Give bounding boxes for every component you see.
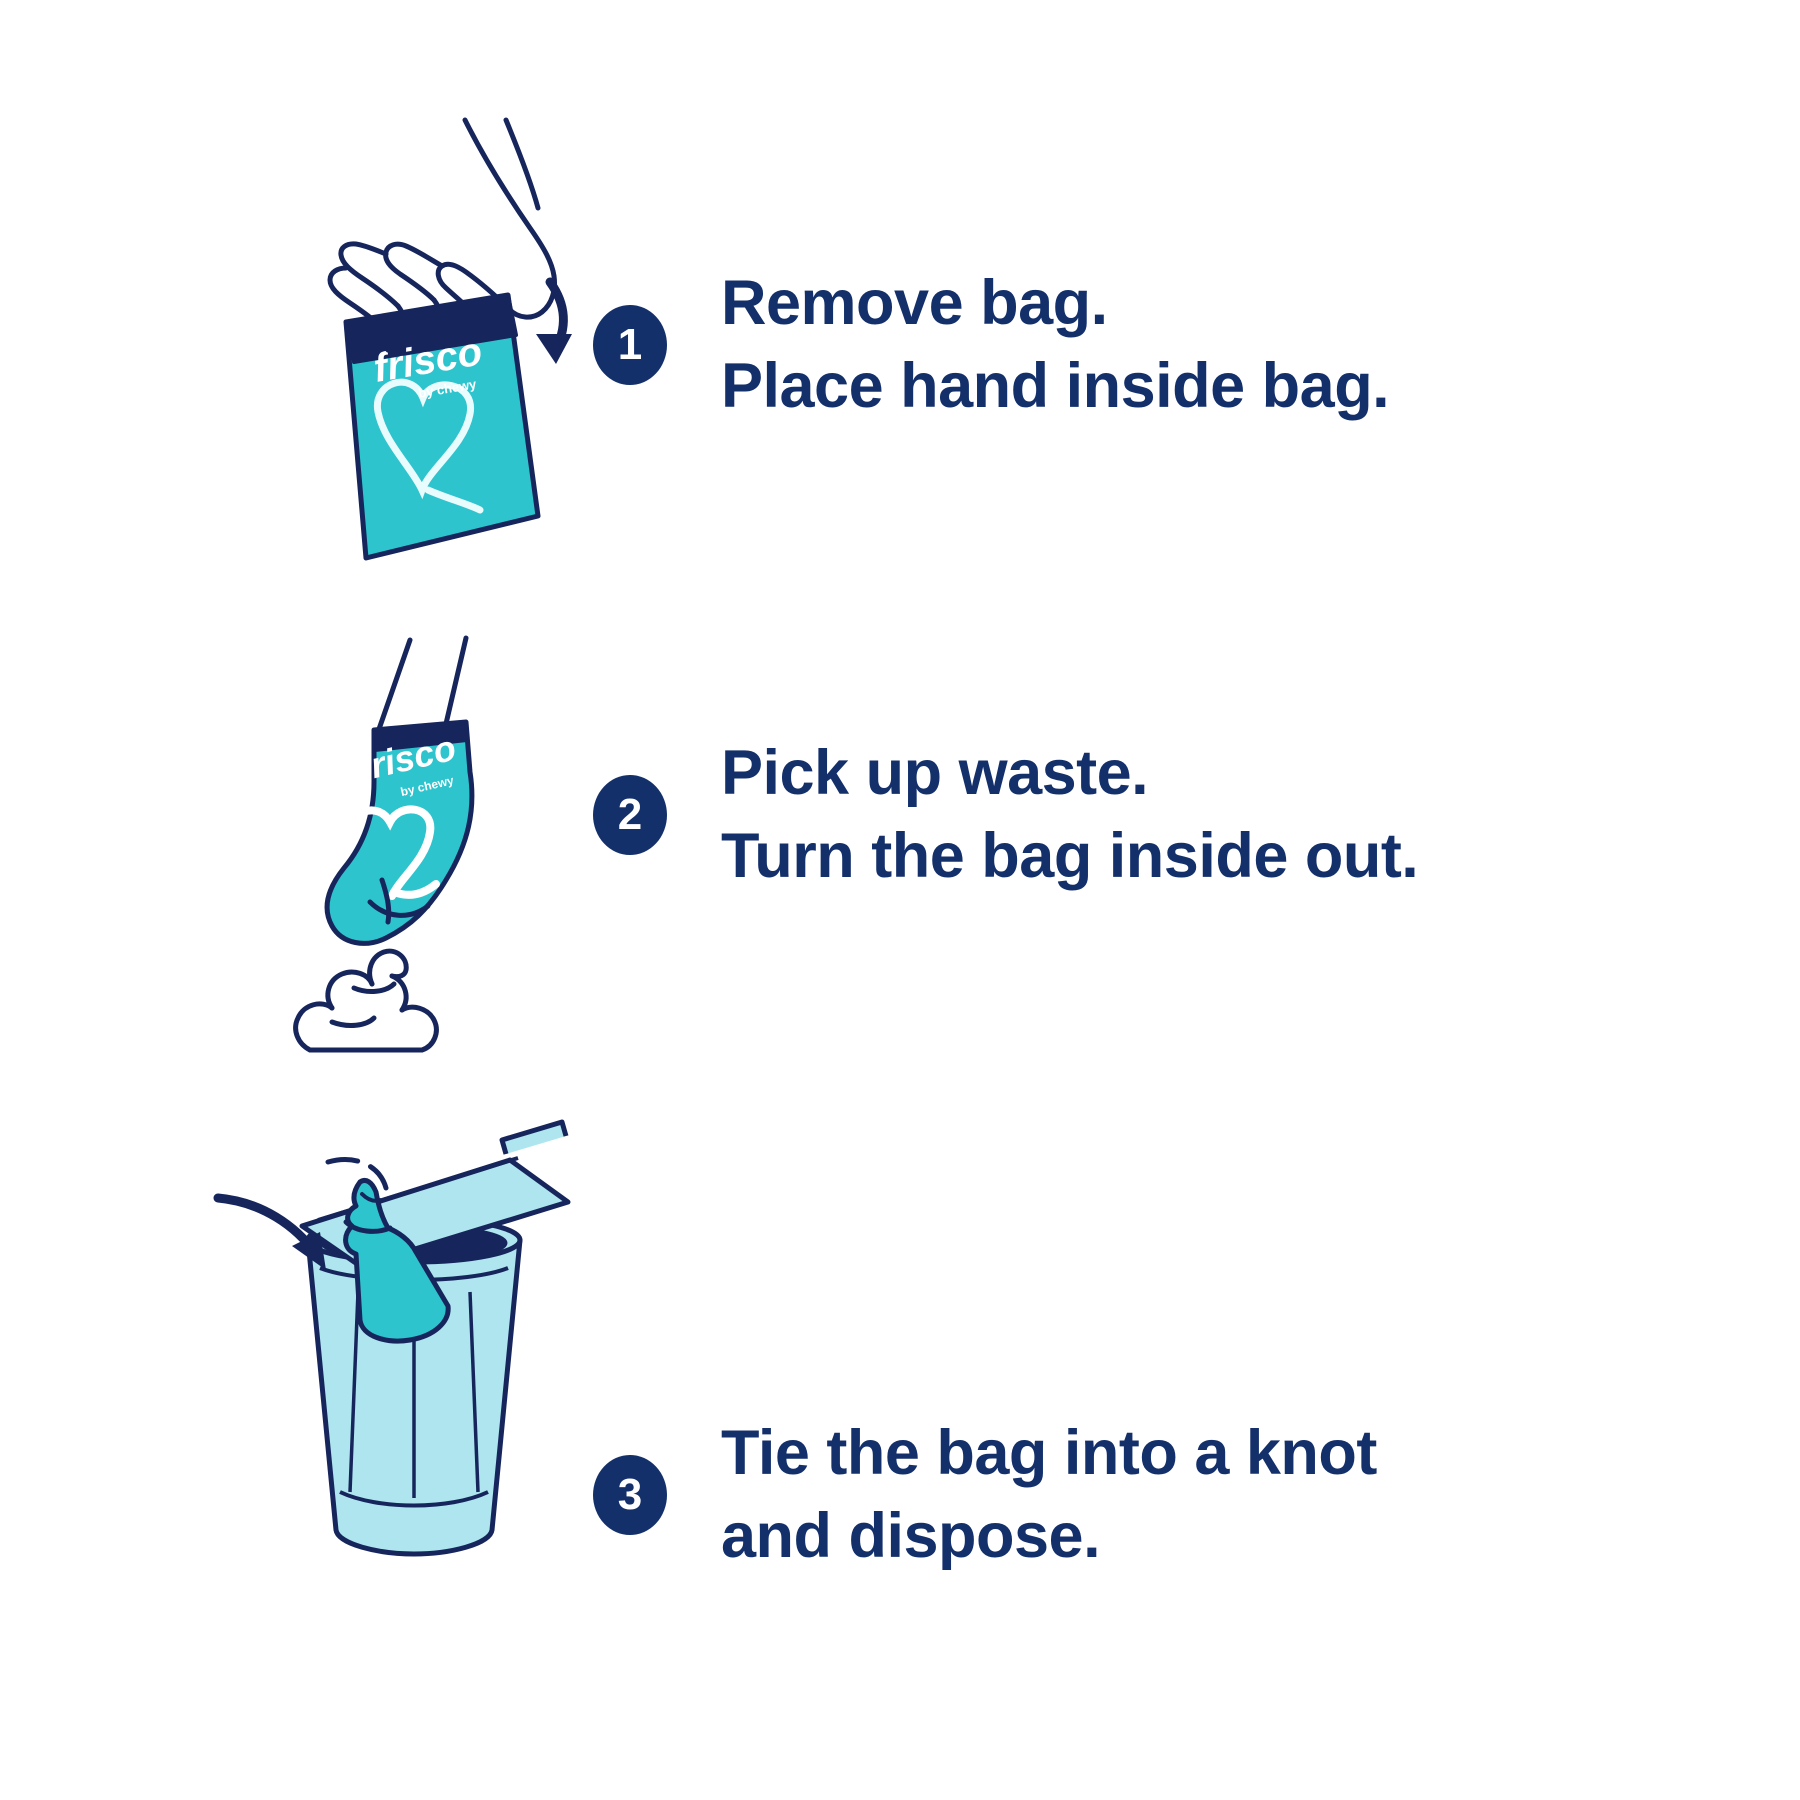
hand-icon xyxy=(330,120,555,350)
waste-pile-icon xyxy=(296,951,437,1050)
step-1-number: 1 xyxy=(618,323,642,367)
step-1-line-1: Remove bag. xyxy=(721,262,1389,345)
arm-lines-icon xyxy=(378,638,466,732)
step-2-lines: Pick up waste. Turn the bag inside out. xyxy=(721,732,1418,898)
step-2-badge: 2 xyxy=(593,775,667,855)
bag-over-hand-icon: frisco by chewy xyxy=(327,722,472,943)
step-3-illustration xyxy=(210,1140,570,1640)
lid-handle-icon xyxy=(502,1122,566,1154)
step-2-line-1: Pick up waste. xyxy=(721,732,1418,815)
step-3-line-1: Tie the bag into a knot xyxy=(721,1412,1377,1495)
step-1-text-block: 1 Remove bag. Place hand inside bag. xyxy=(593,262,1389,428)
trash-lid-icon xyxy=(302,1122,568,1266)
step-3-number: 3 xyxy=(618,1473,642,1517)
step-1-badge: 1 xyxy=(593,305,667,385)
step-3-text-block: 3 Tie the bag into a knot and dispose. xyxy=(593,1412,1377,1578)
step-2-number: 2 xyxy=(618,793,642,837)
step-2-text-block: 2 Pick up waste. Turn the bag inside out… xyxy=(593,732,1418,898)
step-1-line-2: Place hand inside bag. xyxy=(721,345,1389,428)
instruction-infographic: frisco by chewy xyxy=(0,0,1800,1800)
step-1-lines: Remove bag. Place hand inside bag. xyxy=(721,262,1389,428)
step-3-badge: 3 xyxy=(593,1455,667,1535)
bag-box-icon: frisco by chewy xyxy=(346,295,538,558)
step-2-illustration: frisco by chewy xyxy=(270,630,610,1080)
curved-arrow-down-icon xyxy=(536,282,572,364)
step-2-line-2: Turn the bag inside out. xyxy=(721,815,1418,898)
step-3-lines: Tie the bag into a knot and dispose. xyxy=(721,1412,1377,1578)
step-3-line-2: and dispose. xyxy=(721,1495,1377,1578)
step-1-illustration: frisco by chewy xyxy=(280,90,620,580)
